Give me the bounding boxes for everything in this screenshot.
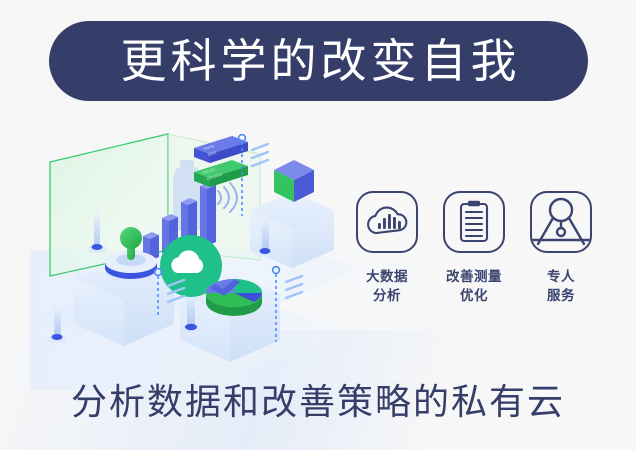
feature-label: 大数据 分析: [366, 267, 408, 305]
feature-label: 专人 服务: [547, 267, 575, 305]
feature-label-line2: 分析: [366, 286, 408, 305]
promo-banner: 更科学的改变自我: [0, 0, 636, 450]
cloud-bar-chart-icon-frame: [356, 191, 418, 253]
service-agent-icon: [532, 194, 590, 250]
clipboard-lines-icon: [454, 199, 494, 245]
service-agent-icon-frame: [530, 191, 592, 253]
feature-label-line1: 专人: [547, 267, 575, 286]
isometric-cube: [274, 160, 314, 202]
title-pill: 更科学的改变自我: [49, 21, 588, 101]
feature-label-line2: 优化: [446, 286, 502, 305]
feature-label-line1: 改善测量: [446, 267, 502, 286]
feature-label-line1: 大数据: [366, 267, 408, 286]
feature-big-data-analysis[interactable]: 大数据 分析: [352, 191, 422, 305]
feature-label-line2: 服务: [547, 286, 575, 305]
isometric-illustration: Find My 口口口 口口 口口 口口,口口口: [28, 118, 358, 368]
illustration-svg: Find My 口口口 口口 口口 口口,口口口: [28, 118, 358, 368]
isometric-pie-chart: [206, 279, 262, 316]
feature-list: 大数据 分析 改善测量: [352, 191, 596, 305]
clipboard-lines-icon-frame: [443, 191, 505, 253]
page-title: 更科学的改变自我: [117, 38, 521, 84]
feature-improvement-measurement[interactable]: 改善测量 优化: [439, 191, 509, 305]
headline-text: 分析数据和改善策略的私有云: [0, 384, 636, 420]
feature-label: 改善测量 优化: [446, 267, 502, 305]
cloud-bar-chart-icon: [365, 202, 409, 242]
feature-dedicated-service[interactable]: 专人 服务: [526, 191, 596, 305]
